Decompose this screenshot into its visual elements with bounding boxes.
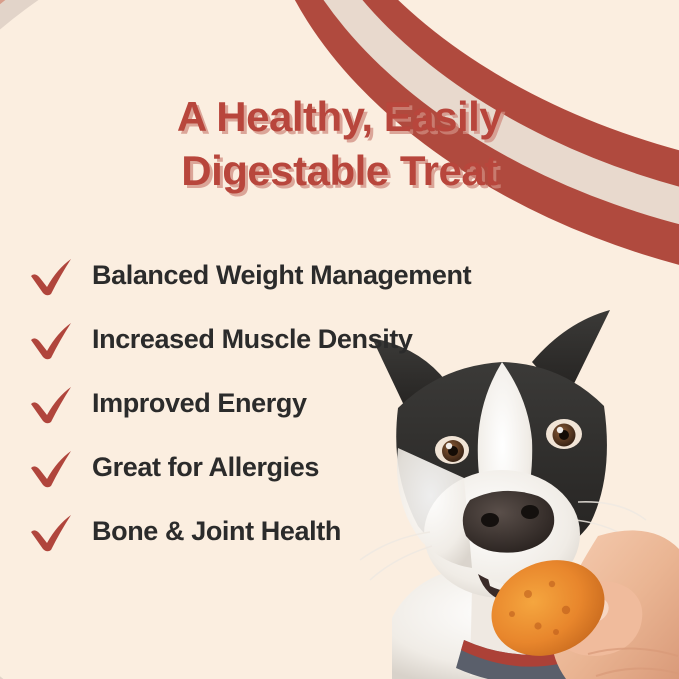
list-item-label: Improved Energy <box>92 388 307 419</box>
list-item: Great for Allergies <box>26 435 646 499</box>
check-icon <box>26 382 76 424</box>
list-item-label: Bone & Joint Health <box>92 516 341 547</box>
feature-list: Balanced Weight Management Increased Mus… <box>26 243 646 563</box>
check-icon <box>26 318 76 360</box>
promo-banner: A Healthy, Easily Digestable Treat Balan… <box>0 0 679 679</box>
title-line-2: Digestable Treat <box>0 144 679 198</box>
title-line-1: A Healthy, Easily <box>0 90 679 144</box>
list-item: Bone & Joint Health <box>26 499 646 563</box>
check-icon <box>26 510 76 552</box>
list-item: Increased Muscle Density <box>26 307 646 371</box>
list-item-label: Great for Allergies <box>92 452 319 483</box>
check-icon <box>26 446 76 488</box>
list-item-label: Increased Muscle Density <box>92 324 413 355</box>
list-item: Balanced Weight Management <box>26 243 646 307</box>
list-item-label: Balanced Weight Management <box>92 260 471 291</box>
list-item: Improved Energy <box>26 371 646 435</box>
page-title: A Healthy, Easily Digestable Treat <box>0 90 679 198</box>
check-icon <box>26 254 76 296</box>
